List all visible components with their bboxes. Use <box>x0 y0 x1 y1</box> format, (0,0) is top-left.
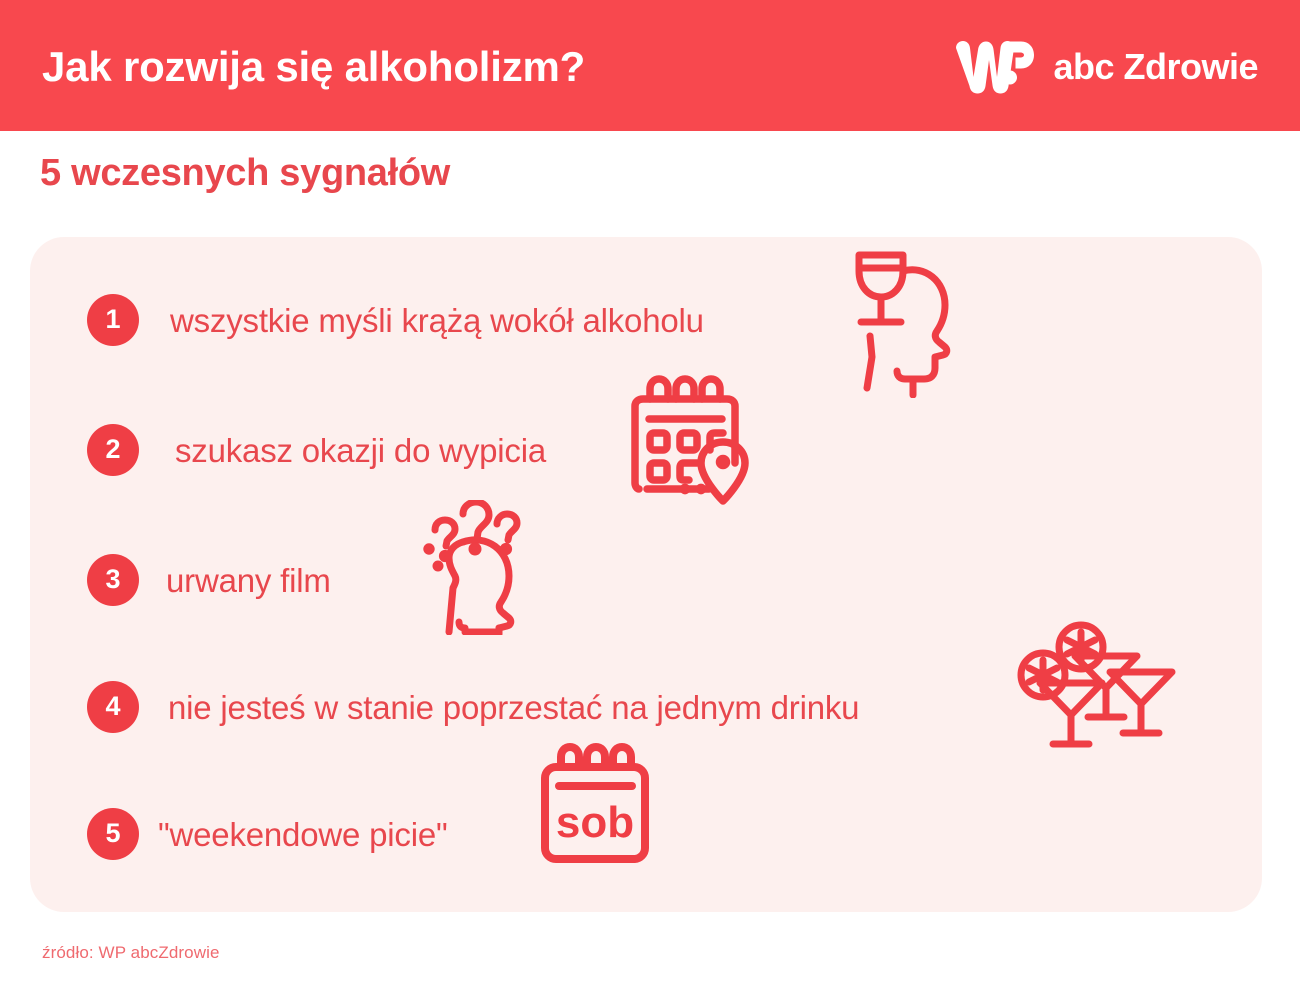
brand-name: abc Zdrowie <box>1053 49 1258 85</box>
list-item-label: "weekendowe picie" <box>158 818 448 851</box>
wp-logo-icon <box>951 39 1035 95</box>
brand-lockup[interactable]: abc Zdrowie <box>951 39 1258 95</box>
calendar-saturday-icon: sob <box>535 742 660 872</box>
calendar-location-pin-icon <box>625 371 755 511</box>
page-title: Jak rozwija się alkoholizm? <box>42 46 585 88</box>
list-item-number-badge: 2 <box>87 424 139 476</box>
source-note: źródło: WP abcZdrowie <box>42 944 220 961</box>
list-item-number-badge: 5 <box>87 808 139 860</box>
list-item: 1 wszystkie myśli krążą wokół alkoholu <box>30 275 1262 365</box>
list-item-label: nie jesteś w stanie poprzestać na jednym… <box>168 691 859 724</box>
page-header: Jak rozwija się alkoholizm? abc Zdrowie <box>0 0 1300 131</box>
list-item-label: urwany film <box>166 564 331 597</box>
wine-glass-head-profile-icon <box>845 243 965 403</box>
list-item: 4 nie jesteś w stanie poprzestać na jedn… <box>30 662 1262 752</box>
list-item-number-badge: 3 <box>87 554 139 606</box>
list-item: 2 szukasz okazji do wypicia <box>30 405 1262 495</box>
head-profile-question-marks-icon <box>405 500 545 640</box>
signals-card: 1 wszystkie myśli krążą wokół alkoholu <box>30 237 1262 912</box>
calendar-day-label: sob <box>556 798 634 847</box>
list-item: 5 "weekendowe picie" sob <box>30 789 1262 879</box>
list-item-number-badge: 4 <box>87 681 139 733</box>
section-subtitle: 5 wczesnych sygnałów <box>40 153 450 195</box>
cocktail-glasses-icon <box>1005 618 1180 758</box>
list-item-label: szukasz okazji do wypicia <box>175 434 546 467</box>
list-item: 3 urwany film <box>30 535 1262 625</box>
list-item-label: wszystkie myśli krążą wokół alkoholu <box>170 304 704 337</box>
list-item-number-badge: 1 <box>87 294 139 346</box>
